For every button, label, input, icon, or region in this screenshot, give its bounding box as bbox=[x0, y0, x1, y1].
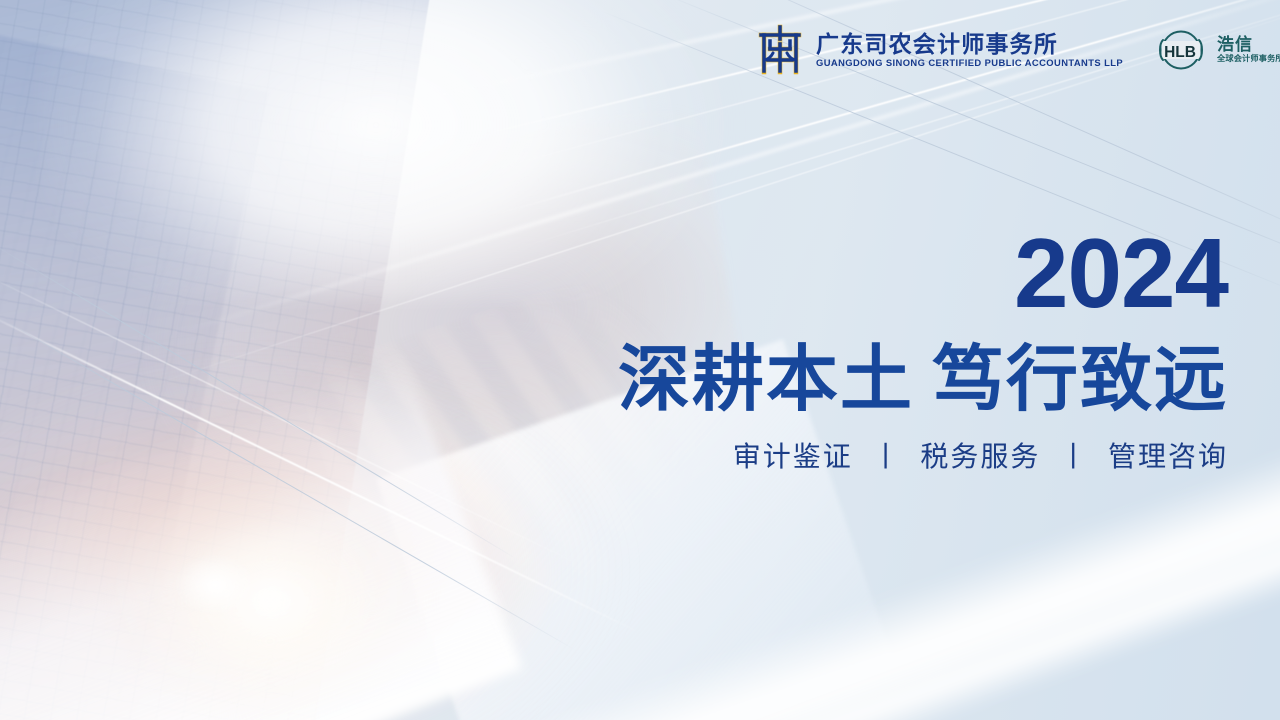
slogan-part-2: 笃行致远 bbox=[932, 340, 1228, 420]
header-logo-bar: 广东司农会计师事务所 GUANGDONG SINONG CERTIFIED PU… bbox=[755, 24, 1280, 76]
sinong-name-cn: 广东司农会计师事务所 bbox=[816, 32, 1123, 56]
presentation-cover-slide: 广东司农会计师事务所 GUANGDONG SINONG CERTIFIED PU… bbox=[0, 0, 1280, 720]
hlb-name-cn: 浩信 bbox=[1217, 36, 1280, 53]
slogan-heading: 深耕本土笃行致远 bbox=[588, 343, 1228, 419]
light-streak bbox=[0, 262, 589, 570]
service-item-2: 税务服务 bbox=[920, 441, 1040, 472]
service-item-3: 管理咨询 bbox=[1108, 441, 1228, 472]
sinong-name-block: 广东司农会计师事务所 GUANGDONG SINONG CERTIFIED PU… bbox=[816, 32, 1123, 68]
hlb-logo[interactable]: HLB 浩信 全球会计师事务所及商业顾问网络 bbox=[1156, 26, 1280, 74]
service-item-1: 审计鉴证 bbox=[733, 441, 853, 472]
year-heading: 2024 bbox=[588, 225, 1228, 321]
logo-divider bbox=[1139, 30, 1140, 70]
hlb-tagline-cn: 全球会计师事务所及商业顾问网络 bbox=[1217, 56, 1280, 64]
services-line: 审计鉴证 丨 税务服务 丨 管理咨询 bbox=[588, 435, 1228, 475]
sinong-logo[interactable]: 广东司农会计师事务所 GUANGDONG SINONG CERTIFIED PU… bbox=[755, 24, 1123, 76]
hlb-mark-text: HLB bbox=[1164, 44, 1196, 61]
hlb-name-block: 浩信 全球会计师事务所及商业顾问网络 bbox=[1217, 36, 1280, 63]
light-streak bbox=[0, 300, 643, 635]
sinong-seal-mark-icon bbox=[755, 24, 805, 76]
sinong-name-en: GUANGDONG SINONG CERTIFIED PUBLIC ACCOUN… bbox=[816, 58, 1123, 67]
hlb-circle-icon: HLB bbox=[1156, 26, 1210, 74]
service-separator: 丨 bbox=[1059, 435, 1089, 475]
background-hairline bbox=[0, 300, 576, 651]
service-separator: 丨 bbox=[872, 435, 902, 475]
slogan-part-1: 深耕本土 bbox=[618, 340, 914, 420]
background-hairline bbox=[0, 230, 519, 560]
headline-block: 2024 深耕本土笃行致远 审计鉴证 丨 税务服务 丨 管理咨询 bbox=[588, 225, 1228, 475]
